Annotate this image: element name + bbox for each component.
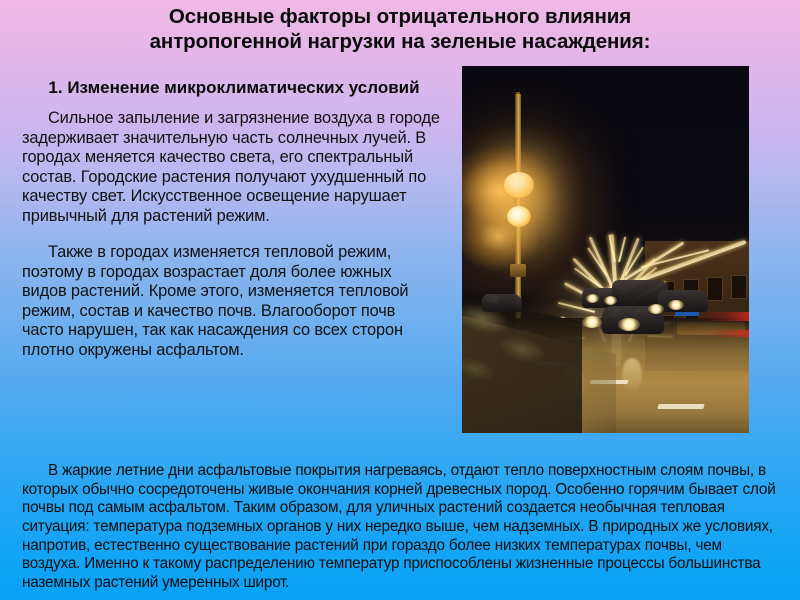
lamp-globe-icon [507,206,531,227]
headlight [618,318,640,331]
body-paragraph-2: Также в городах изменяется тепловой режи… [22,243,440,361]
headlight [648,304,664,314]
night-street-photo [462,66,749,433]
headlight [586,294,599,303]
presentation-slide: Основные факторы отрицательного влияния … [0,0,800,600]
lamp-globe-icon [504,172,534,198]
light-reflection [622,358,642,392]
headlight [582,316,602,328]
body-paragraph-1: Сильное запыление и загрязнение воздуха … [22,109,440,227]
car [482,294,522,312]
headlight [604,296,617,305]
bottom-paragraph: В жаркие летние дни асфальтовые покрытия… [22,462,784,592]
title-line-2: антропогенной нагрузки на зеленые насажд… [50,29,750,54]
lane-marking [657,404,704,409]
lamp-collar [510,264,526,277]
taillight-streak [694,312,749,321]
title-line-1: Основные факторы отрицательного влияния [50,4,750,29]
car [658,290,708,312]
left-text-column: 1. Изменение микроклиматических условий … [22,78,440,377]
photo-canvas [462,66,749,433]
taillight-streak [702,330,749,337]
headlight [668,300,684,310]
section-subheading: 1. Изменение микроклиматических условий [22,78,440,98]
slide-title: Основные факторы отрицательного влияния … [50,4,750,54]
